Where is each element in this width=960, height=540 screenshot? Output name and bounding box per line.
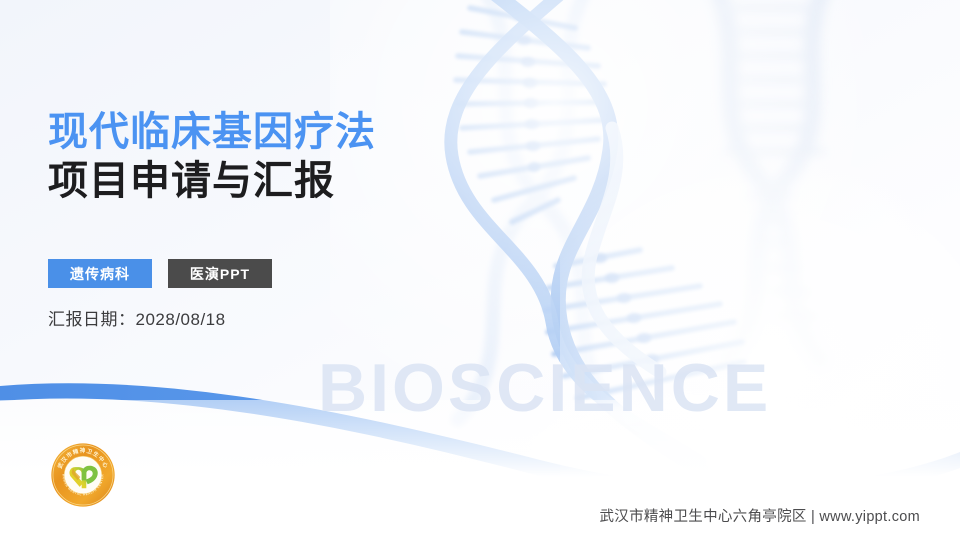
bioscience-watermark: BIOSCIENCE (318, 349, 771, 427)
page-title-primary: 现代临床基因疗法 (48, 108, 376, 157)
logo-emblem-icon: 武汉市精神卫生中心 WUHAN MENTAL HEALTH CENTER (50, 442, 116, 508)
presentation-title-slide: BIOSCIENCE 现代临床基因疗法 项目申请与汇报 遗传病科 医演PPT 汇… (0, 0, 960, 540)
badge-department[interactable]: 遗传病科 (48, 259, 152, 288)
report-date: 汇报日期：2028/08/18 (48, 305, 226, 330)
badge-template[interactable]: 医演PPT (168, 259, 272, 288)
organization-logo: 武汉市精神卫生中心 WUHAN MENTAL HEALTH CENTER (50, 442, 116, 508)
title-block: 现代临床基因疗法 项目申请与汇报 (48, 108, 376, 206)
footer-organization-line: 武汉市精神卫生中心六角亭院区 | www.yippt.com (599, 505, 920, 526)
page-title-secondary: 项目申请与汇报 (48, 157, 376, 206)
badge-row: 遗传病科 医演PPT (48, 259, 272, 288)
